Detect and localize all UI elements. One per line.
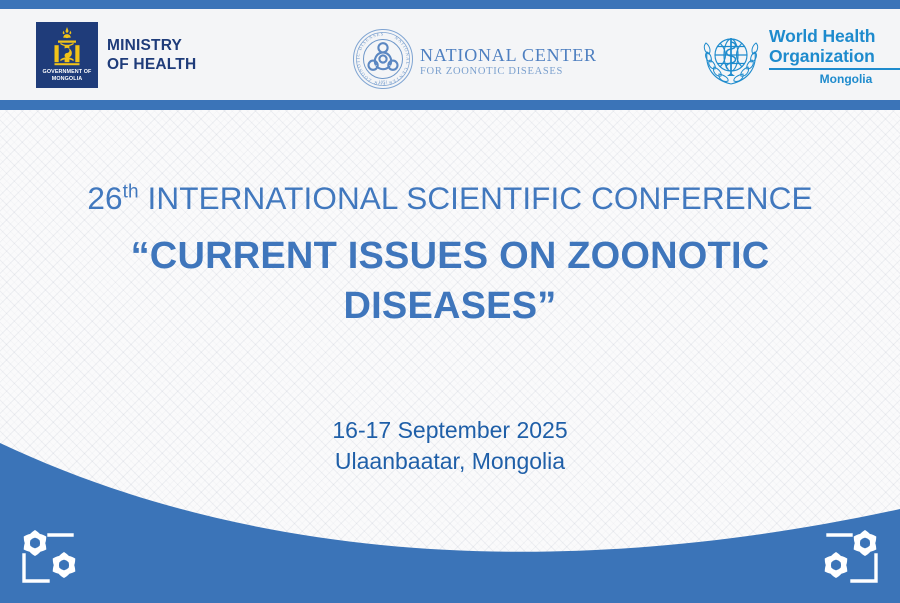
emblem-caption-line1: GOVERNMENT OF [36,69,98,76]
who-emblem-icon [700,28,762,90]
seal-year: 1951 [379,79,388,84]
footer-wave-decoration [0,443,900,603]
who-country-label: Mongolia [769,72,900,86]
government-of-mongolia-emblem: GOVERNMENT OF MONGOLIA [36,22,98,88]
who-mongolia-logo: World Health Organization Mongolia [700,26,900,90]
mongolian-ulzii-knot-icon-left [14,525,92,587]
who-wordmark: World Health Organization Mongolia [769,26,900,86]
ncz-name-line2: FOR ZOONOTIC DISEASES [420,65,597,78]
conference-ordinal: th [123,182,139,203]
national-center-name: NATIONAL CENTER FOR ZOONOTIC DISEASES [420,41,597,78]
mongolian-ulzii-knot-icon-right [808,525,886,587]
top-accent-rule [0,0,900,9]
ministry-name-line1: MINISTRY [107,36,196,55]
soyombo-icon [36,26,98,68]
ministry-of-health-logo: GOVERNMENT OF MONGOLIA MINISTRY OF HEALT… [36,22,196,88]
event-dates: 16-17 September 2025 [0,415,900,446]
conference-heading: 26th INTERNATIONAL SCIENTIFIC CONFERENCE [0,178,900,218]
conference-theme-title: “CURRENT ISSUES ON ZOONOTIC DISEASES” [0,231,900,331]
ministry-of-health-name: MINISTRY OF HEALTH [107,36,196,74]
header-logo-band: GOVERNMENT OF MONGOLIA MINISTRY OF HEALT… [0,9,900,100]
who-name-line1: World Health [769,27,900,47]
zoonotic-center-seal-icon: NATIONAL CENTER FOR ZOONOTIC DISEASES 19… [352,28,414,90]
who-name-line2: Organization [769,47,900,67]
conference-label: INTERNATIONAL SCIENTIFIC CONFERENCE [148,180,813,216]
emblem-caption-line2: MONGOLIA [36,76,98,83]
wave-shapes [0,443,900,603]
conference-number: 26 [87,180,122,216]
who-underline-rule [769,68,900,70]
slide-body: 26th INTERNATIONAL SCIENTIFIC CONFERENCE… [0,110,900,603]
header-divider-rule [0,100,900,110]
ministry-name-line2: OF HEALTH [107,55,196,74]
conference-title-slide: GOVERNMENT OF MONGOLIA MINISTRY OF HEALT… [0,0,900,603]
emblem-caption: GOVERNMENT OF MONGOLIA [36,69,98,83]
wave-primary [0,443,900,603]
ncz-name-line1: NATIONAL CENTER [420,45,597,65]
headline-block: 26th INTERNATIONAL SCIENTIFIC CONFERENCE… [0,178,900,331]
national-center-zoonotic-diseases-logo: NATIONAL CENTER FOR ZOONOTIC DISEASES 19… [352,28,597,90]
